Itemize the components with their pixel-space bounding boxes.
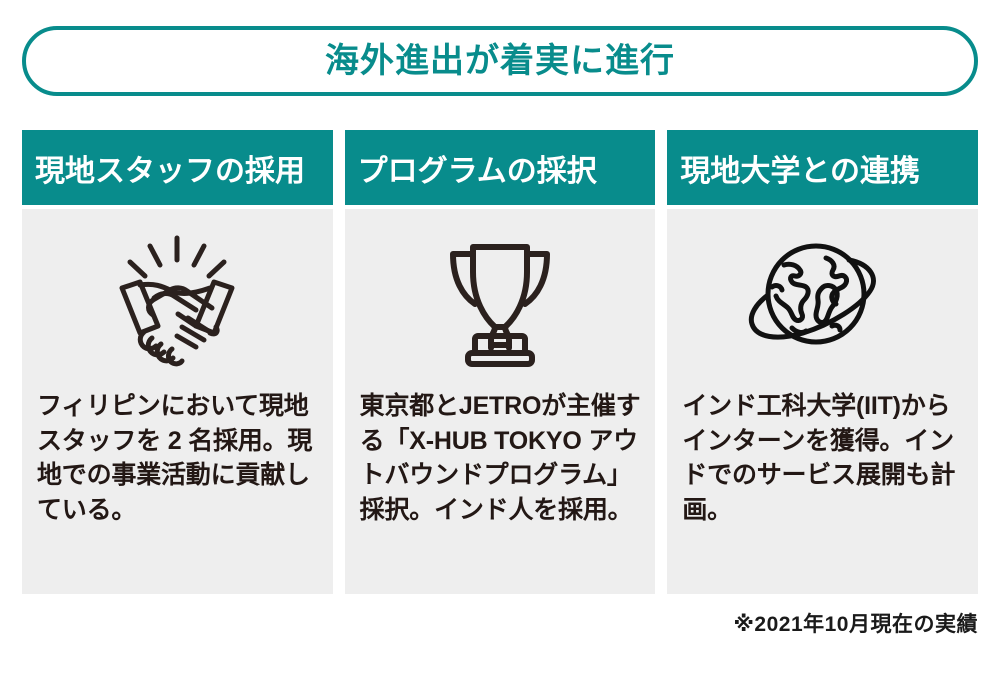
column-header-3: 現地大学との連携 — [667, 130, 978, 205]
column-text-1: フィリピンにおいて現地スタッフを 2 名採用。現地での事業活動に貢献している。 — [22, 389, 333, 527]
column-university-partnership: 現地大学との連携 インド工科 — [667, 130, 978, 594]
column-program-adoption: プログラムの採択 — [345, 130, 656, 594]
globe-icon — [667, 209, 978, 389]
trophy-icon — [345, 209, 656, 389]
page-title: 海外進出が着実に進行 — [325, 44, 675, 78]
footnote: ※2021年10月現在の実績 — [734, 608, 979, 638]
column-body-1: フィリピンにおいて現地スタッフを 2 名採用。現地での事業活動に貢献している。 — [22, 209, 333, 594]
column-text-3: インド工科大学(IIT)からインターンを獲得。インドでのサービス展開も計画。 — [667, 389, 978, 527]
columns-container: 現地スタッフの採用 — [22, 130, 978, 594]
column-text-2: 東京都とJETROが主催する「X-HUB TOKYO アウトバウンドプログラム」… — [345, 389, 656, 527]
column-body-3: インド工科大学(IIT)からインターンを獲得。インドでのサービス展開も計画。 — [667, 209, 978, 594]
column-header-2: プログラムの採択 — [345, 130, 656, 205]
column-local-staff: 現地スタッフの採用 — [22, 130, 333, 594]
column-header-1: 現地スタッフの採用 — [22, 130, 333, 205]
title-banner: 海外進出が着実に進行 — [22, 26, 978, 96]
handshake-icon — [22, 209, 333, 389]
column-body-2: 東京都とJETROが主催する「X-HUB TOKYO アウトバウンドプログラム」… — [345, 209, 656, 594]
